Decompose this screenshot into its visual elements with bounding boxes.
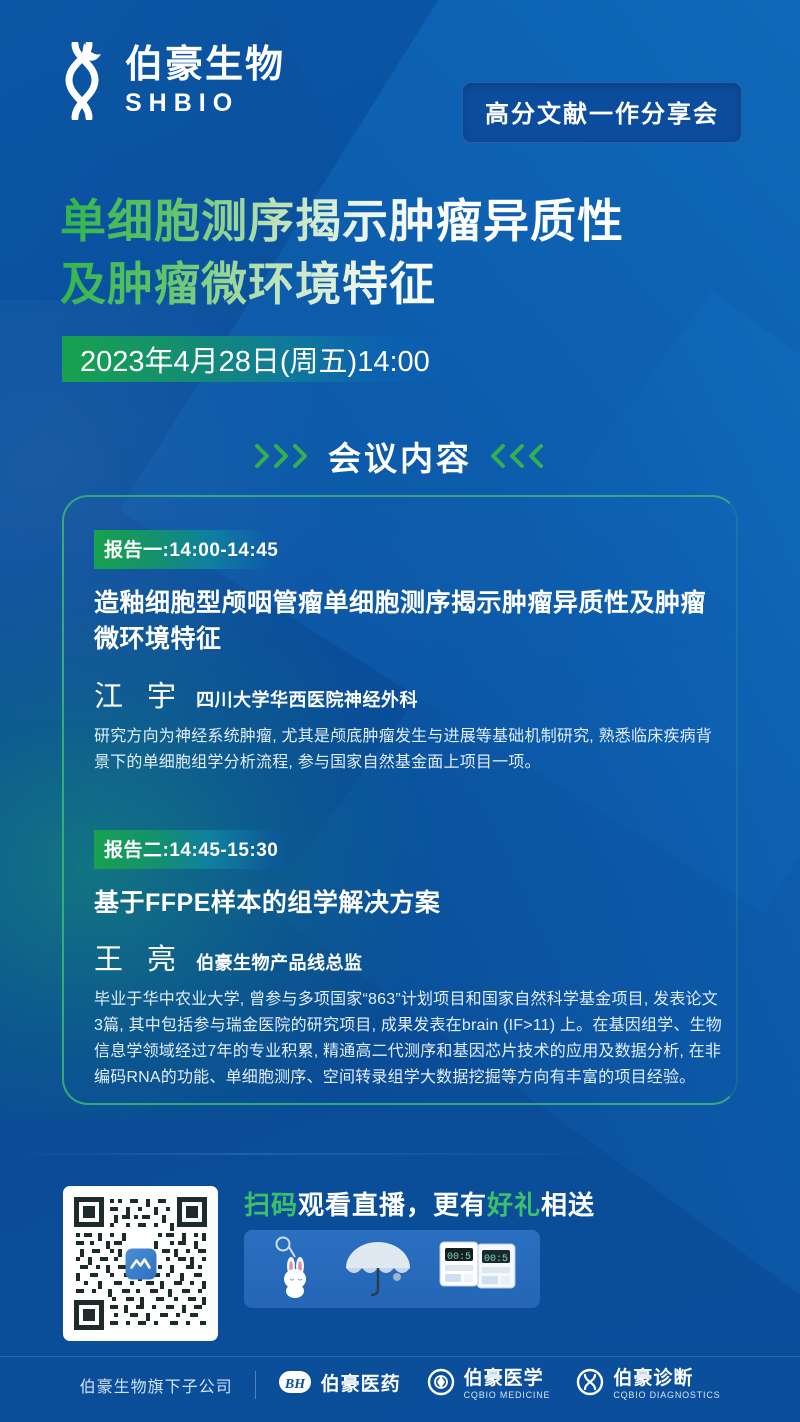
promo-part-scan: 扫码: [244, 1190, 298, 1220]
footer-brand-name-cn: 伯豪医学: [464, 1369, 551, 1389]
talk-time-tag: 报告二:14:45-15:30: [94, 830, 294, 869]
chevron-left-triple-icon: [490, 443, 545, 469]
app-logo-icon: [125, 1248, 156, 1279]
footer-brand-name-en: CQBIO MEDICINE: [464, 1391, 551, 1400]
promo-text: 扫码观看直播，更有好礼相送: [244, 1185, 595, 1222]
footer-brand-bh-pharma: BH 伯豪医药: [278, 1369, 401, 1400]
speaker-organization: 伯豪生物产品线总监: [196, 949, 363, 975]
footer-label: 伯豪生物旗下子公司: [80, 1373, 233, 1397]
umbrella-gift-icon: [340, 1237, 416, 1302]
talk-title: 基于FFPE样本的组学解决方案: [94, 885, 714, 921]
svg-text:BH: BH: [283, 1377, 305, 1392]
section-title: 会议内容: [328, 432, 472, 480]
agenda-card: 报告一:14:00-14:45 造釉细胞型颅咽管瘤单细胞测序揭示肿瘤异质性及肿瘤…: [62, 495, 738, 1105]
background-divider-line: [0, 1153, 800, 1155]
talk-item: 报告一:14:00-14:45 造釉细胞型颅咽管瘤单细胞测序揭示肿瘤异质性及肿瘤…: [94, 530, 714, 776]
footer-brand-name-cn: 伯豪医药: [321, 1375, 401, 1395]
dna-helix-icon: [55, 42, 111, 120]
gift-showcase: 00:5 00:5: [244, 1230, 540, 1308]
svg-text:00:5: 00:5: [484, 1254, 508, 1265]
brand-logo: 伯豪生物 SHBIO: [55, 42, 285, 120]
footer-separator: [255, 1371, 256, 1399]
event-type-badge: 高分文献一作分享会: [462, 82, 742, 143]
event-datetime: 2023年4月28日(周五)14:00: [62, 336, 446, 382]
footer: 伯豪生物旗下子公司 BH 伯豪医药 伯豪医学: [0, 1368, 800, 1401]
promo-part-send: 相送: [541, 1190, 595, 1220]
cqbio-medicine-icon: [427, 1368, 455, 1401]
promo-part-watch: 观看直播，更有: [298, 1190, 487, 1220]
promo-part-gift: 好礼: [487, 1190, 541, 1220]
footer-brand-text: 伯豪诊断 CQBIO DIAGNOSTICS: [613, 1369, 720, 1400]
page-title-line1: 单细胞测序揭示肿瘤异质性: [60, 190, 760, 253]
bh-circle-icon: BH: [278, 1369, 312, 1400]
poster-header: 伯豪生物 SHBIO 高分文献一作分享会: [0, 0, 800, 170]
qr-code-icon[interactable]: [63, 1186, 218, 1341]
footer-divider: [0, 1356, 800, 1357]
qr-code-pattern: [70, 1193, 211, 1334]
talk-time-tag: 报告一:14:00-14:45: [94, 530, 294, 569]
page-title: 单细胞测序揭示肿瘤异质性 及肿瘤微环境特征: [60, 190, 760, 317]
speaker-organization: 四川大学华西医院神经外科: [196, 686, 418, 712]
speaker-bio: 毕业于华中农业大学, 曾参与多项国家“863”计划项目和国家自然科学基金项目, …: [94, 987, 724, 1091]
speaker-name: 王 亮: [94, 936, 184, 978]
footer-brand-cqbio-diagnostics: 伯豪诊断 CQBIO DIAGNOSTICS: [576, 1368, 720, 1401]
brand-name-cn: 伯豪生物: [125, 46, 285, 84]
footer-brand-cqbio-medicine: 伯豪医学 CQBIO MEDICINE: [427, 1368, 551, 1401]
speaker-name: 江 宇: [94, 673, 184, 715]
talk-item: 报告二:14:45-15:30 基于FFPE样本的组学解决方案 王 亮 伯豪生物…: [94, 830, 714, 1092]
svg-text:00:5: 00:5: [447, 1252, 471, 1263]
rabbit-keychain-gift-icon: [265, 1236, 319, 1303]
brand-logo-text: 伯豪生物 SHBIO: [125, 46, 285, 116]
talk-speaker-row: 江 宇 四川大学华西医院神经外科: [94, 673, 714, 715]
chevron-right-triple-icon: [255, 443, 310, 469]
speaker-bio: 研究方向为神经系统肿瘤, 尤其是颅底肿瘤发生与进展等基础机制研究, 熟悉临床疾病…: [94, 724, 724, 776]
cqbio-diagnostics-icon: [576, 1368, 604, 1401]
footer-brand-name-cn: 伯豪诊断: [613, 1369, 720, 1389]
section-header: 会议内容: [0, 432, 800, 480]
brand-name-en: SHBIO: [125, 91, 285, 116]
talk-speaker-row: 王 亮 伯豪生物产品线总监: [94, 936, 714, 978]
footer-brand-text: 伯豪医学 CQBIO MEDICINE: [464, 1369, 551, 1400]
page-title-line2: 及肿瘤微环境特征: [60, 253, 760, 316]
digital-timer-gift-icon: 00:5 00:5: [437, 1238, 519, 1301]
talk-title: 造釉细胞型颅咽管瘤单细胞测序揭示肿瘤异质性及肿瘤微环境特征: [94, 585, 714, 658]
footer-brand-name-en: CQBIO DIAGNOSTICS: [613, 1391, 720, 1400]
poster-root: 伯豪生物 SHBIO 高分文献一作分享会 单细胞测序揭示肿瘤异质性 及肿瘤微环境…: [0, 0, 800, 1422]
footer-brand-text: 伯豪医药: [321, 1375, 401, 1395]
